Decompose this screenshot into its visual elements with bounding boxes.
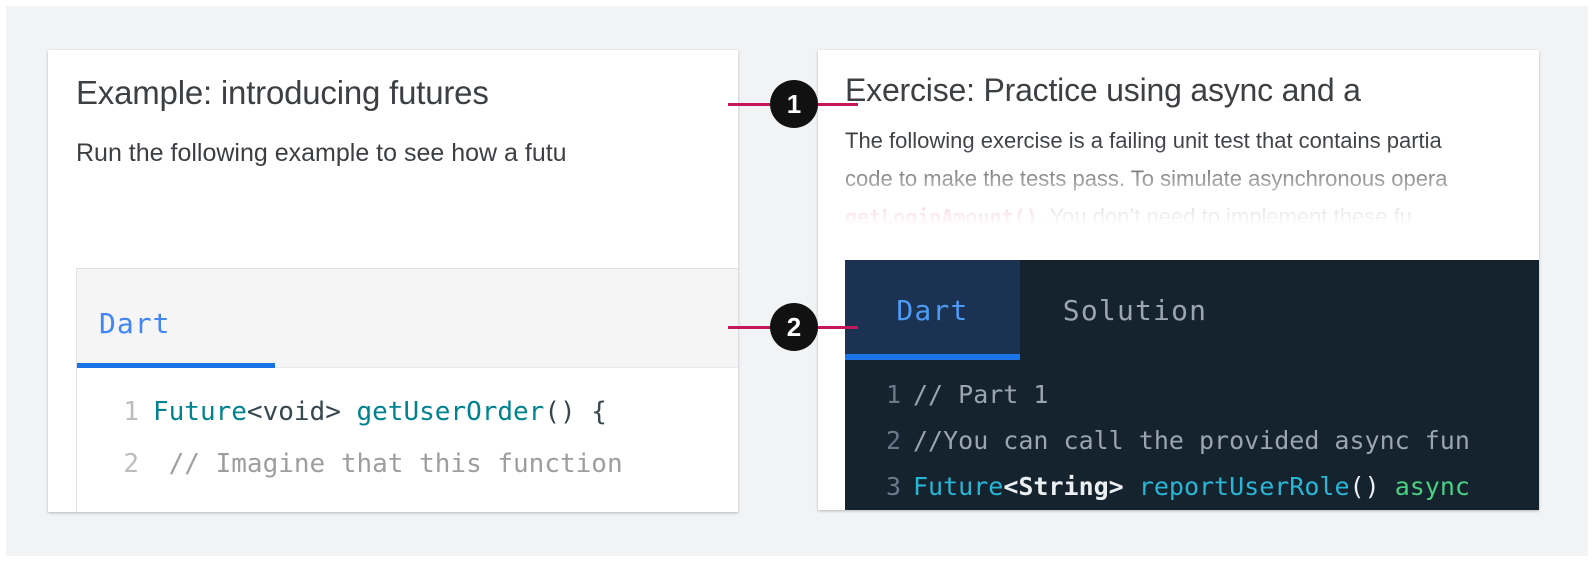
callout-badge-number: 2 bbox=[770, 303, 818, 351]
editor-tab-bar: Dart Solution bbox=[845, 260, 1539, 360]
code-token-type: Future bbox=[913, 472, 1003, 501]
code-token-space bbox=[1380, 472, 1395, 501]
code-token-keyword: async bbox=[1395, 472, 1470, 501]
line-number: 1 bbox=[77, 386, 139, 438]
line-number: 2 bbox=[77, 438, 139, 490]
code-token-comment: //You can call the provided async fun bbox=[913, 426, 1470, 455]
callout-marker-2: 2 bbox=[728, 303, 858, 351]
code-line: 2 // Imagine that this function bbox=[77, 438, 738, 490]
screenshot-stage: Example: introducing futures Run the fol… bbox=[6, 6, 1588, 556]
code-token-function: getUserOrder bbox=[357, 397, 545, 427]
line-number: 3 bbox=[845, 464, 901, 510]
code-token-space bbox=[341, 397, 357, 427]
tab-solution[interactable]: Solution bbox=[1020, 260, 1250, 360]
callout-leader-line-left bbox=[728, 103, 770, 106]
code-token-punctuation: () bbox=[1350, 472, 1380, 501]
code-token-type: Future bbox=[153, 397, 247, 427]
tab-dart[interactable]: Dart bbox=[845, 260, 1020, 360]
code-token-comment: // Imagine that this function bbox=[153, 449, 623, 479]
code-line: 1// Part 1 bbox=[845, 372, 1539, 418]
code-area[interactable]: 1// Part 1 2//You can call the provided … bbox=[845, 360, 1539, 510]
inline-code-token: getLoginAmount() bbox=[845, 205, 1038, 229]
code-line: 1Future<void> getUserOrder() { bbox=[77, 386, 738, 438]
description-line-with-code: getLoginAmount(). You don’t need to impl… bbox=[845, 198, 1539, 236]
editor-tab-bar: Dart bbox=[77, 269, 738, 368]
code-area[interactable]: 1Future<void> getUserOrder() { 2 // Imag… bbox=[77, 368, 738, 490]
tab-dart[interactable]: Dart bbox=[99, 307, 170, 340]
description-line: code to make the tests pass. To simulate… bbox=[845, 160, 1539, 198]
callout-leader-line-right bbox=[818, 326, 858, 329]
callout-badge-number: 1 bbox=[770, 80, 818, 128]
exercise-description: The following exercise is a failing unit… bbox=[845, 122, 1539, 236]
description-line-rest: . You don’t need to implement these fu bbox=[1038, 204, 1412, 229]
line-number: 1 bbox=[845, 372, 901, 418]
active-tab-indicator bbox=[77, 363, 275, 368]
code-token-function: reportUserRole bbox=[1139, 472, 1350, 501]
code-line: 3Future<String> reportUserRole() async bbox=[845, 464, 1539, 510]
active-tab-indicator bbox=[845, 354, 1020, 360]
dartpad-dark-editor: Dart Solution 1// Part 1 2//You can call… bbox=[845, 260, 1539, 510]
code-token-generic: <String> bbox=[1003, 472, 1123, 501]
code-token-space bbox=[1124, 472, 1139, 501]
dartpad-light-editor: Dart 1Future<void> getUserOrder() { 2 //… bbox=[76, 268, 738, 512]
code-token-punctuation: () { bbox=[544, 397, 607, 427]
code-line: 2//You can call the provided async fun bbox=[845, 418, 1539, 464]
example-description: Run the following example to see how a f… bbox=[76, 135, 738, 173]
code-token-comment: // Part 1 bbox=[913, 380, 1048, 409]
example-card: Example: introducing futures Run the fol… bbox=[48, 50, 738, 512]
page-title: Exercise: Practice using async and a bbox=[845, 72, 1539, 110]
exercise-card: Exercise: Practice using async and a The… bbox=[818, 50, 1539, 510]
line-number: 2 bbox=[845, 418, 901, 464]
page-title: Example: introducing futures bbox=[76, 74, 738, 113]
code-token-generic: <void> bbox=[247, 397, 341, 427]
description-line: The following exercise is a failing unit… bbox=[845, 122, 1539, 160]
callout-marker-1: 1 bbox=[728, 80, 858, 128]
callout-leader-line-left bbox=[728, 326, 770, 329]
callout-leader-line-right bbox=[818, 103, 858, 106]
